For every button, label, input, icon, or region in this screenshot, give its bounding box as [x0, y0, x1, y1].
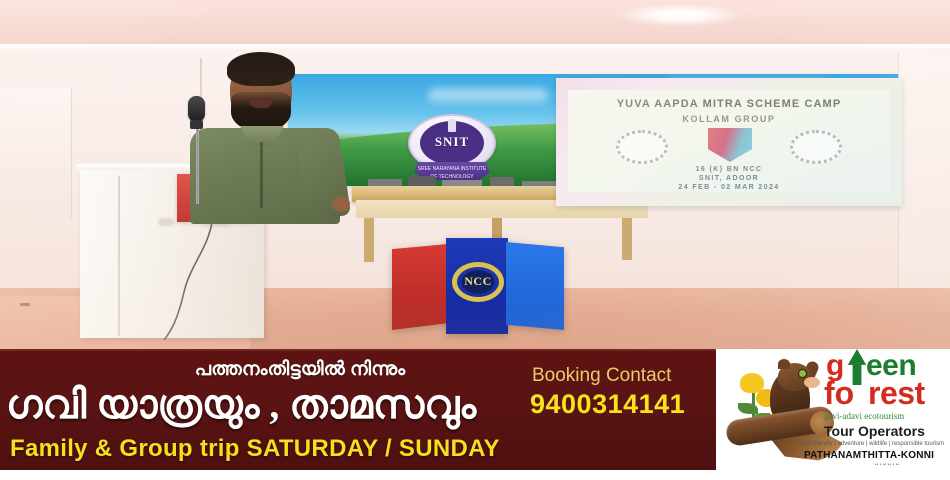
- ncc-flag-red-band: [392, 244, 448, 330]
- ncc-flag-large: NCC: [392, 238, 564, 334]
- screen-glare: [556, 78, 902, 206]
- advertisement-banner: പത്തനംതിട്ടയിൽ നിന്നും ഗവി യാത്രയും , താ…: [0, 349, 950, 471]
- ncc-flag-blue-band: [506, 242, 564, 330]
- speaker-eye: [240, 80, 252, 85]
- brand-tagline: eco friendly | adventure | wildlife | re…: [778, 441, 950, 447]
- brand-logo-panel: g een fo rest gavi-adavi ecotourism Tour…: [716, 349, 950, 470]
- mascot-eye: [798, 369, 807, 378]
- ceiling-light-glint: [668, 8, 694, 20]
- screenshot-root: SNIT SREE NARAYANA INSTITUTE OF TECHNOLO…: [0, 0, 950, 480]
- banner-top-edge: [0, 349, 716, 351]
- mascot-snout: [804, 377, 820, 388]
- event-photograph: SNIT SREE NARAYANA INSTITUTE OF TECHNOLO…: [0, 0, 950, 352]
- snit-emblem-text: SNIT: [420, 134, 484, 150]
- banner-headline-small: പത്തനംതിട്ടയിൽ നിന്നും: [110, 359, 490, 381]
- brand-eco-line: gavi-adavi ecotourism: [824, 411, 950, 421]
- ncc-emblem-text: NCC: [452, 274, 504, 289]
- table-leg: [364, 218, 374, 262]
- backdrop-cloud: [428, 88, 548, 102]
- speaker-hair: [227, 52, 295, 86]
- booking-contact-label: Booking Contact: [532, 365, 702, 387]
- microphone-cable: [150, 222, 230, 340]
- booking-contact-number[interactable]: 9400314141: [530, 389, 720, 420]
- speaker-shirt-placket: [260, 142, 263, 208]
- brand-location: PATHANAMTHITTA-KONNI: [804, 450, 950, 461]
- banner-subline: Family & Group trip SATURDAY / SUNDAY: [10, 435, 590, 463]
- microphone-icon: [188, 96, 205, 122]
- bottom-white-strip: [0, 471, 950, 480]
- leaf-icon: [738, 403, 758, 414]
- snit-torch-icon: [448, 119, 456, 132]
- brand-phone-line: •• • •• •• • ••: [824, 462, 950, 468]
- brand-letters-fo: fo: [824, 377, 854, 409]
- floor-mark: [20, 303, 30, 306]
- speaker-eye: [270, 80, 282, 85]
- brand-letters-rest: rest: [868, 377, 925, 409]
- microphone-clip: [190, 120, 203, 129]
- speaker-mouth: [250, 98, 272, 108]
- green-forest-wordmark: g een fo rest gavi-adavi ecotourism Tour…: [824, 349, 950, 470]
- brand-tour-operators: Tour Operators: [824, 423, 950, 439]
- projector-screen: YUVA AAPDA MITRA SCHEME CAMP KOLLAM GROU…: [556, 78, 902, 206]
- mascot-ear: [778, 359, 790, 369]
- wall-panel-left: [0, 88, 72, 218]
- wall-right-strip: [898, 52, 950, 288]
- speaker-person: [186, 56, 342, 216]
- ncc-emblem: NCC: [452, 262, 504, 302]
- podium-seam: [118, 176, 120, 336]
- speaker-hand: [332, 196, 350, 212]
- table-leg: [622, 218, 632, 260]
